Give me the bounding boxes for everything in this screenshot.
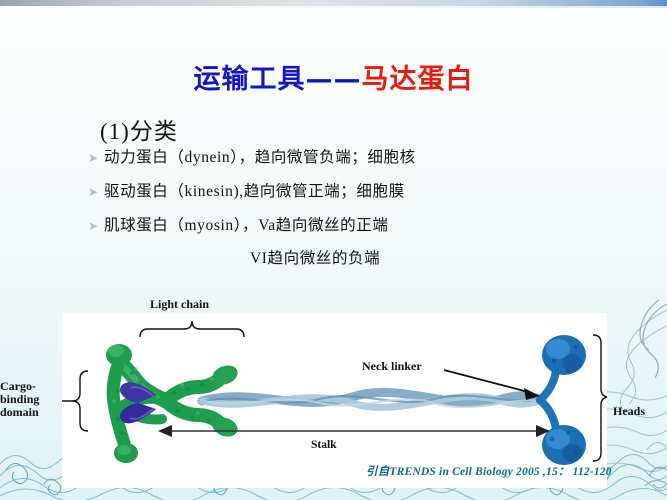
label-heads: Heads bbox=[613, 405, 645, 418]
bullet-sub-line: VI趋向微丝的负端 bbox=[250, 246, 380, 268]
bullet-item-label: 驱动蛋白（kinesin),趋向微管正端；细胞膜 bbox=[104, 182, 405, 202]
chevron-bullet-icon: ➤ bbox=[88, 182, 104, 202]
chevron-bullet-icon: ➤ bbox=[88, 148, 104, 168]
label-cargo-binding-domain: Cargo- binding domain bbox=[0, 380, 58, 419]
motor-protein-diagram bbox=[62, 313, 607, 488]
label-neck-linker: Neck linker bbox=[362, 360, 422, 373]
slide-top-accent-bar bbox=[0, 0, 667, 8]
bullet-item-kinesin: ➤ 驱动蛋白（kinesin),趋向微管正端；细胞膜 bbox=[88, 182, 405, 202]
bullet-item-myosin: ➤ 肌球蛋白（myosin），Va趋向微丝的正端 bbox=[88, 216, 388, 236]
bullet-item-label: 动力蛋白（dynein），趋向微管负端；细胞核 bbox=[104, 148, 416, 168]
section-heading: (1)分类 bbox=[100, 112, 178, 146]
stalk-coiled-coil bbox=[202, 392, 540, 407]
label-light-chain: Light chain bbox=[150, 298, 209, 311]
slide-canvas: 运输工具——马达蛋白 (1)分类 ➤ 动力蛋白（dynein），趋向微管负端；细… bbox=[0, 0, 667, 500]
light-chain-brace bbox=[140, 321, 244, 337]
heads-brace bbox=[593, 335, 607, 461]
motor-heads-structure bbox=[540, 335, 586, 465]
slide-title: 运输工具——马达蛋白 bbox=[0, 57, 667, 96]
slide-title-red: 马达蛋白 bbox=[362, 64, 474, 95]
cargo-binding-brace bbox=[62, 371, 88, 431]
slide-title-blue: 运输工具—— bbox=[194, 64, 362, 95]
label-stalk: Stalk bbox=[311, 439, 337, 452]
figure-citation: 引自TRENDS in Cell Biology 2005 ,15： 112-1… bbox=[366, 463, 612, 479]
bullet-item-dynein: ➤ 动力蛋白（dynein），趋向微管负端；细胞核 bbox=[88, 148, 416, 168]
label-cargo-binding-line3: domain bbox=[0, 406, 58, 419]
bullet-item-label: 肌球蛋白（myosin），Va趋向微丝的正端 bbox=[104, 216, 388, 236]
chevron-bullet-icon: ➤ bbox=[88, 216, 104, 236]
figure-panel: Light chain Cargo- binding domain Neck l… bbox=[62, 313, 607, 488]
